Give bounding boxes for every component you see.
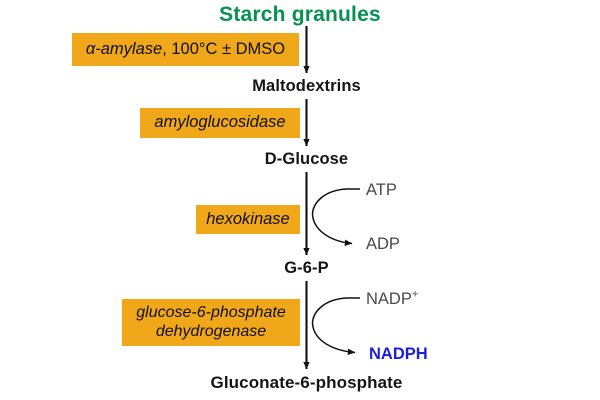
curved-arrow-atp-in [313, 189, 361, 214]
curved-arrow-adp-out [313, 214, 353, 244]
pathway-diagram: Starch granules α-amylase, 100°C ± DMSO … [0, 0, 600, 400]
curved-arrow-nadp-in [313, 298, 361, 323]
curved-arrow-nadph-out [313, 323, 356, 353]
arrow-layer [0, 0, 600, 400]
metabolite-label-gluconate-6-phosphate: Gluconate-6-phosphate [0, 373, 600, 393]
